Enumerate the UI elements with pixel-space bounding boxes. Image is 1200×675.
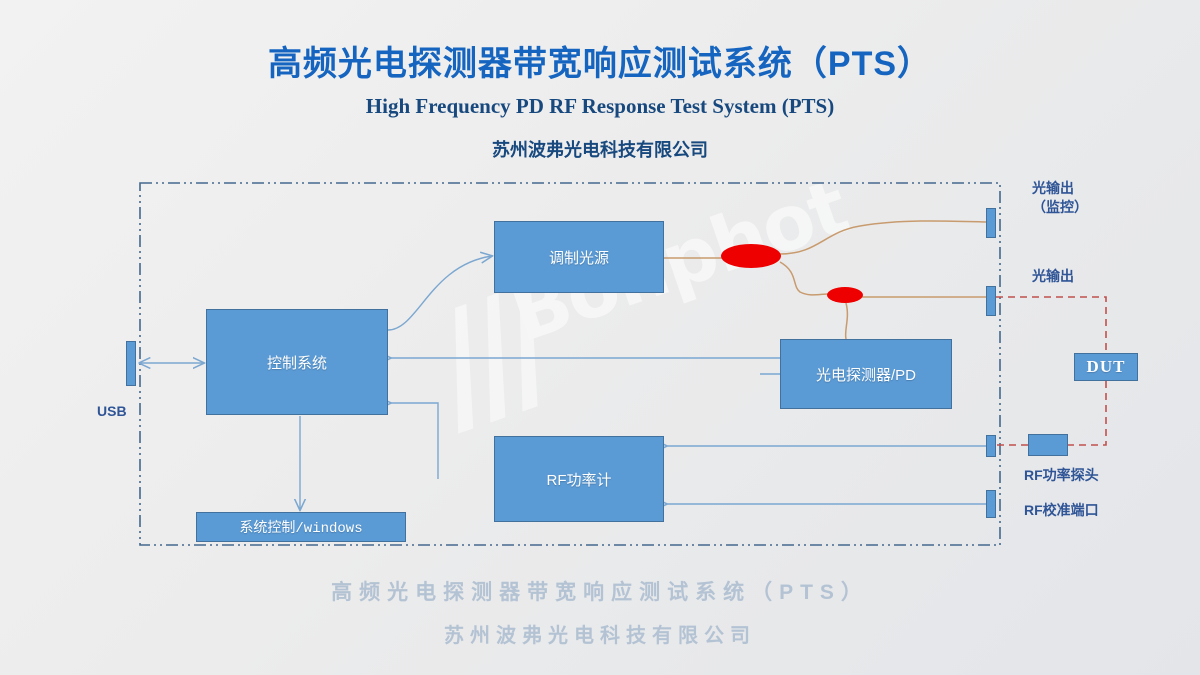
port-rf-power-probe[interactable]: [986, 435, 996, 457]
box-rf-power-meter[interactable]: RF功率计: [494, 436, 664, 522]
label-usb: USB: [97, 402, 127, 421]
port-usb[interactable]: [126, 341, 136, 386]
label-optical-output-monitor: 光输出 （监控）: [1032, 179, 1088, 217]
label-rf-power-probe: RF功率探头: [1024, 466, 1099, 485]
port-optical-output-monitor[interactable]: [986, 208, 996, 238]
label-rf-calibration-port: RF校准端口: [1024, 501, 1099, 520]
fiber-splitter1-to-splitter2: [780, 262, 828, 295]
label-optical-output-monitor-line1: 光输出: [1032, 179, 1088, 198]
box-photodetector[interactable]: 光电探测器/PD: [780, 339, 952, 409]
box-rf-power-probe[interactable]: [1028, 434, 1068, 456]
fiber-splitter1-to-monitor-port: [780, 221, 986, 254]
box-dut-label: DUT: [1087, 357, 1126, 377]
box-system-control-windows-label: 系统控制/windows: [239, 517, 362, 537]
box-dut[interactable]: DUT: [1074, 353, 1138, 381]
footer-line-2: 苏州波弗光电科技有限公司: [0, 619, 1200, 648]
footer-line-1: 高频光电探测器带宽响应测试系统（PTS）: [0, 576, 1200, 606]
rf-path-output-to-dut: [996, 297, 1106, 351]
box-control-system[interactable]: 控制系统: [206, 309, 388, 415]
box-modulated-light-source-label: 调制光源: [549, 247, 609, 268]
label-optical-output-monitor-line2: （监控）: [1032, 198, 1088, 217]
fiber-splitter2-to-pd: [846, 303, 848, 339]
label-optical-output: 光输出: [1032, 267, 1074, 286]
diagram-canvas: Bonphot 高频光电探测器带宽响应测试系统（PTS） High Freque…: [0, 0, 1200, 675]
link-control-source: [388, 256, 492, 330]
box-photodetector-label: 光电探测器/PD: [816, 364, 916, 385]
box-control-system-label: 控制系统: [267, 352, 327, 373]
box-modulated-light-source[interactable]: 调制光源: [494, 221, 664, 293]
box-system-control-windows[interactable]: 系统控制/windows: [196, 512, 406, 542]
wiring-layer: [0, 0, 1200, 675]
link-rfmeter-control: [390, 403, 438, 479]
port-rf-calibration[interactable]: [986, 490, 996, 518]
port-optical-output[interactable]: [986, 286, 996, 316]
box-rf-power-meter-label: RF功率计: [547, 469, 612, 490]
rf-path-dut-to-probe: [1068, 381, 1106, 445]
optical-splitter-secondary: [827, 287, 863, 303]
optical-splitter-primary: [721, 244, 781, 268]
